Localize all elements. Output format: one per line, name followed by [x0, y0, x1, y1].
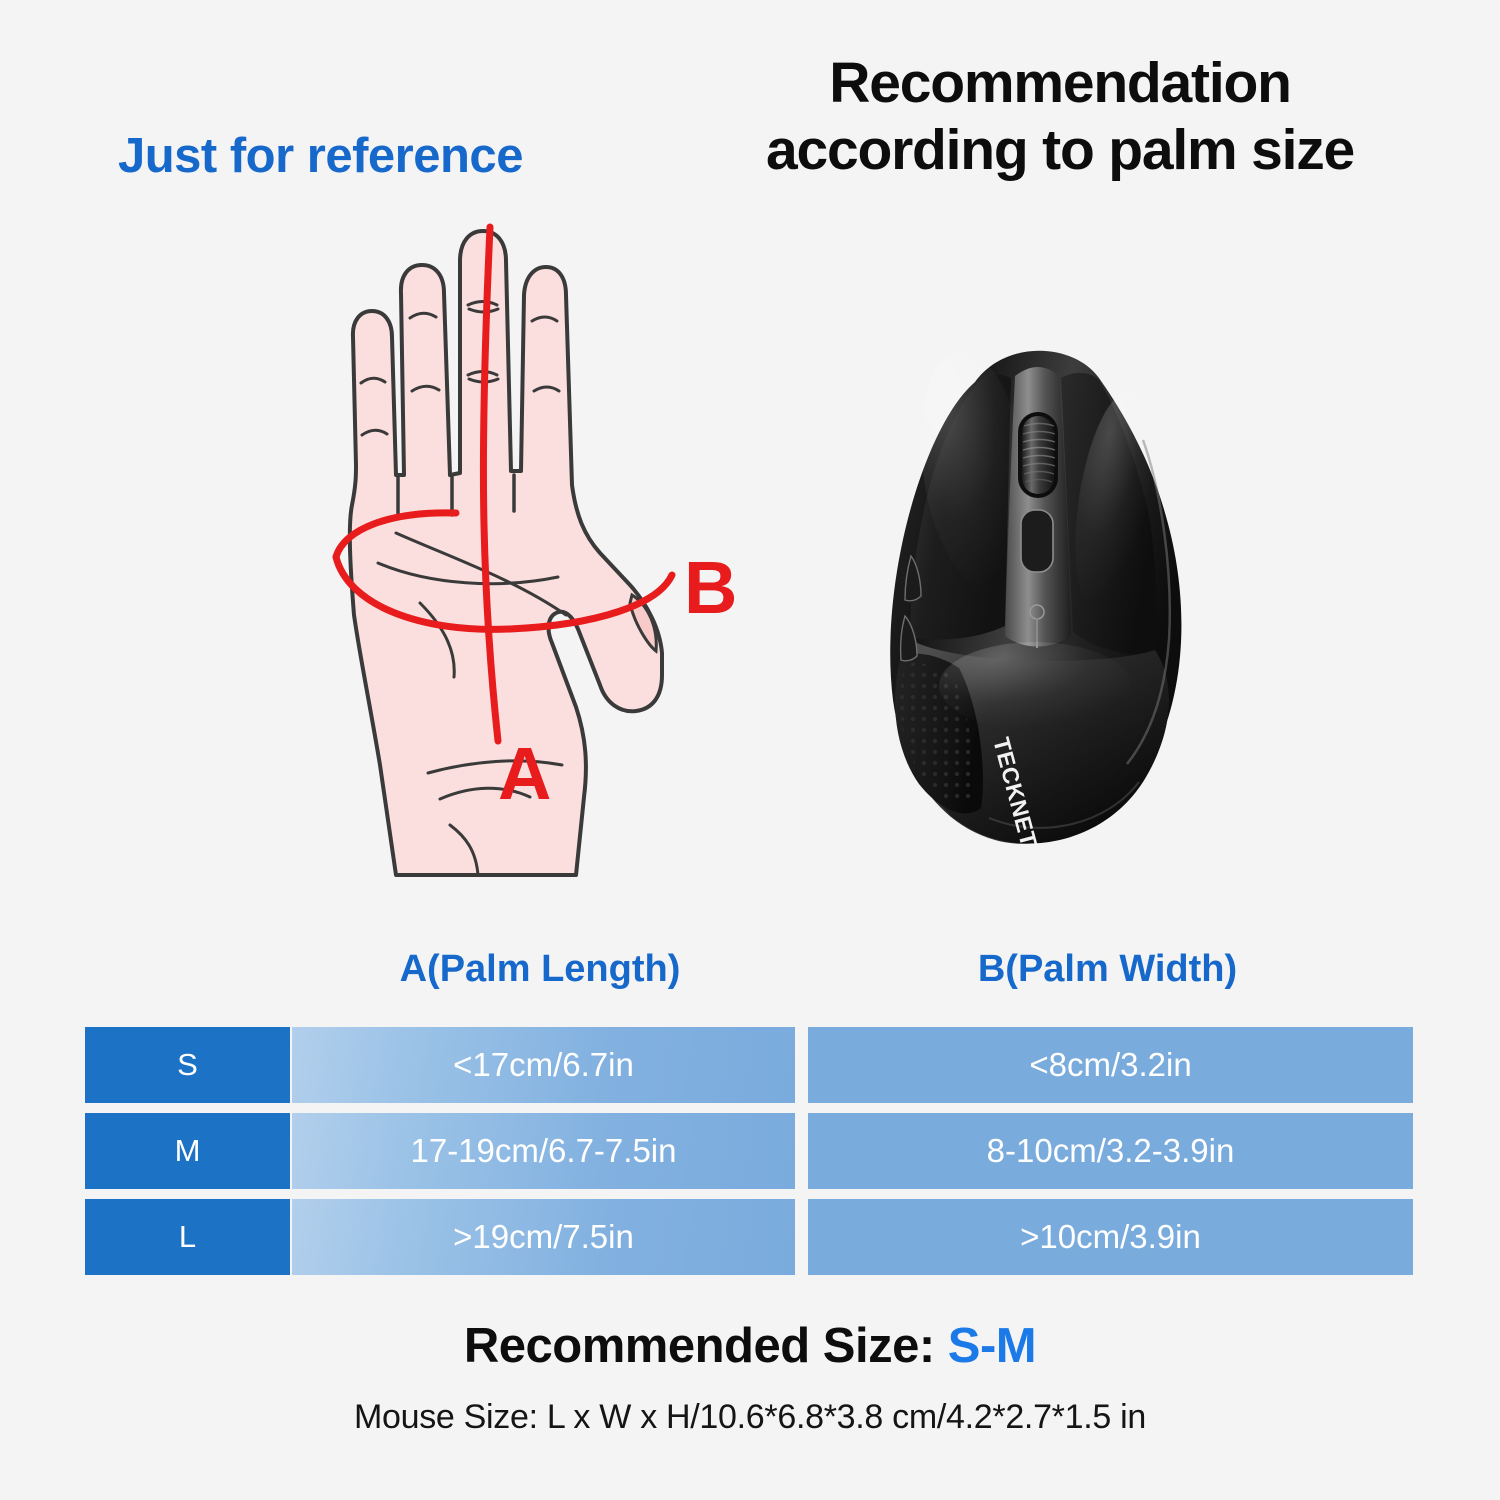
cell-palm-length: <17cm/6.7in — [292, 1027, 795, 1103]
cell-size-label: M — [85, 1113, 290, 1189]
column-header-palm-length: A(Palm Length) — [285, 948, 795, 991]
cell-size-label: L — [85, 1199, 290, 1275]
reference-label: Just for reference — [118, 128, 523, 184]
label-b: B — [684, 546, 737, 629]
page-title: Recommendation according to palm size — [660, 50, 1460, 183]
cell-palm-length: >19cm/7.5in — [292, 1199, 795, 1275]
column-header-palm-width: B(Palm Width) — [800, 948, 1415, 991]
cell-palm-width: <8cm/3.2in — [808, 1027, 1413, 1103]
infographic-canvas: Just for reference Recommendation accord… — [0, 0, 1500, 1500]
recommended-size-prefix: Recommended Size: — [464, 1319, 948, 1373]
cell-palm-length: 17-19cm/6.7-7.5in — [292, 1113, 795, 1189]
table-row: L >19cm/7.5in >10cm/3.9in — [85, 1199, 1413, 1275]
cell-size-label: S — [85, 1027, 290, 1103]
cell-palm-width: >10cm/3.9in — [808, 1199, 1413, 1275]
mouse-product-image: TECKNET — [855, 320, 1225, 880]
page-title-line-2: according to palm size — [660, 117, 1460, 184]
recommended-size-value: S-M — [948, 1319, 1036, 1373]
cell-palm-width: 8-10cm/3.2-3.9in — [808, 1113, 1413, 1189]
label-a: A — [498, 732, 551, 815]
mouse-dimensions-line: Mouse Size: L x W x H/10.6*6.8*3.8 cm/4.… — [0, 1398, 1500, 1437]
table-row: S <17cm/6.7in <8cm/3.2in — [85, 1027, 1413, 1103]
table-row: M 17-19cm/6.7-7.5in 8-10cm/3.2-3.9in — [85, 1113, 1413, 1189]
recommended-size-line: Recommended Size: S-M — [0, 1318, 1500, 1374]
size-recommendation-table: S <17cm/6.7in <8cm/3.2in M 17-19cm/6.7-7… — [85, 1027, 1413, 1275]
palm-measurement-diagram: A B — [300, 185, 760, 905]
gloss-highlight-palm — [939, 642, 1131, 730]
page-title-line-1: Recommendation — [660, 50, 1460, 117]
